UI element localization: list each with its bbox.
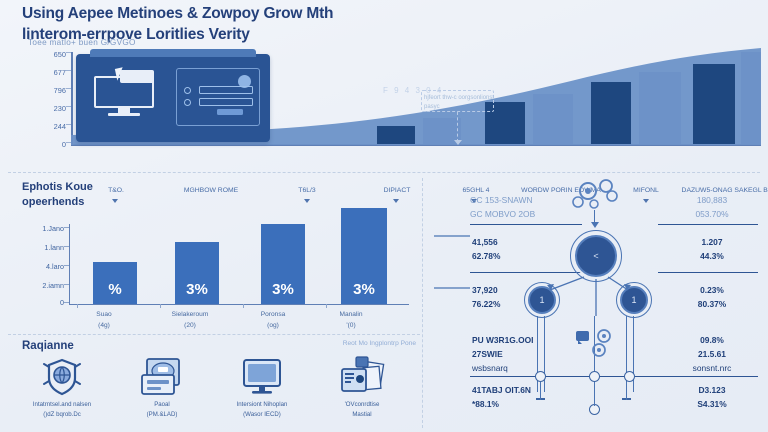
annotation-leader-line [457, 112, 458, 142]
bl-x-label-main: Sielakeroum [148, 310, 232, 321]
right-stat-line: 0.23% [666, 284, 758, 298]
annotation-box: hjfeort thw-c oorgsonlionst pasyc [421, 90, 494, 112]
y-tick-label: 677 [54, 68, 66, 77]
terminal-ring-left [535, 371, 546, 382]
bl-x-label-2: Sielakeroum (20) [148, 310, 232, 331]
bl-bar-value: 3% [341, 281, 387, 298]
bl-bar-1: % [93, 262, 137, 304]
left-stat-line: *88.1% [472, 398, 531, 412]
bottom-left-bars: % 3% 3% 3% [69, 196, 409, 304]
y-tick-label: 650 [54, 50, 66, 59]
bl-bar-value: 3% [261, 281, 305, 298]
title-line-1: Using Aepee Metinoes & Zowpoy Grow Mth [22, 4, 582, 25]
terminal-ring-right [624, 371, 635, 382]
icon-item-1[interactable]: Intatrntsel.and nalsen ()dZ bqrob.Dc [12, 354, 112, 420]
right-stat-line: 053.70% [666, 208, 758, 222]
icon-caption-line-2: (PM.&LAD) [112, 410, 212, 420]
bl-y-tick-label: 4.laro [46, 262, 64, 271]
top-chart: 650 677 796 230 244 0 [8, 48, 760, 160]
right-stat-group-3: 0.23% 80.37% [666, 284, 758, 312]
bl-y-tick-label: 1.Jano [42, 224, 64, 233]
subtitle: Toee matlo+ buen G/GVGO [28, 38, 136, 47]
left-stat-group-2: 41,556 62.78% [472, 236, 500, 264]
left-stat-group-1: GC 153-SNAWN GC MOBVO 2OB [470, 194, 535, 222]
bl-x-label-sub: (og) [240, 321, 306, 332]
shield-globe-icon [12, 354, 112, 400]
annotation-text: hjfeort thw-c oorgsonlionst pasyc [424, 94, 495, 112]
right-stat-group-4: 09.8% 21.5.61 sonsnt.nrc [666, 334, 758, 376]
icon-strip-title: Raqianne [22, 340, 74, 352]
badge-chip [120, 70, 154, 83]
bottom-left-chart: Ephotis Koue opeerhends 1.Jano 1.lann 4.… [8, 176, 420, 331]
bl-x-label-main: Manalin [318, 310, 384, 321]
infographic-page: Using Aepee Metinoes & Zowpoy Grow Mth l… [0, 0, 768, 432]
right-stat-group-1: 180,883 053.70% [666, 194, 758, 222]
right-stat-line: 44.3% [666, 250, 758, 264]
bar-9 [639, 72, 681, 144]
left-stat-line: GC 153-SNAWN [470, 194, 535, 208]
monitor-icon [212, 354, 312, 400]
left-stat-line: 76.22% [472, 298, 500, 312]
bl-x-label-sub: (4g) [74, 321, 134, 332]
bl-x-label-3: Poronsa (og) [240, 310, 306, 331]
tee-stem-right [626, 382, 627, 400]
y-tick-label: 230 [54, 104, 66, 113]
divider-horizontal-top [8, 172, 760, 173]
icon-caption-line-2: Mastial [312, 410, 412, 420]
icon-caption-line-2: (Wasor IECD) [212, 410, 312, 420]
icon-strip: Raqianne Reot Mo Ingplontrp Pone Intatrn… [8, 336, 420, 430]
bl-bar-2: 3% [175, 242, 219, 304]
left-stat-line: wsbsnarq [472, 362, 533, 376]
bl-title-line-1: Ephotis Koue [22, 180, 172, 195]
drop-line-left-b [544, 316, 545, 392]
right-stat-line: 1.207 [666, 236, 758, 250]
right-diagram-panel: < 1 1 [426, 176, 760, 430]
bl-bar-value: 3% [175, 281, 219, 298]
right-stat-line: S4.31% [666, 398, 758, 412]
server-device-icon [112, 354, 212, 400]
icon-caption-line-1: Paoal [112, 400, 212, 410]
bar-10 [693, 64, 735, 144]
right-stat-line: 180,883 [666, 194, 758, 208]
icon-caption-line-1: Intersiont Nihoplan [212, 400, 312, 410]
left-stat-line: GC MOBVO 2OB [470, 208, 535, 222]
form-card-illustration [176, 68, 260, 126]
right-stat-line: D3.123 [666, 384, 758, 398]
terminal-ring-center [589, 371, 600, 382]
tee-stem-center [594, 382, 595, 406]
left-stat-line: 62.78% [472, 250, 500, 264]
chat-bubble-icon [576, 331, 589, 341]
left-stat-line: 27SWIE [472, 348, 533, 362]
top-chart-y-axis: 650 677 796 230 244 0 [22, 50, 66, 146]
bl-x-label-sub: '(0) [318, 321, 384, 332]
right-stat-line: 21.5.61 [666, 348, 758, 362]
bar-7 [533, 94, 573, 144]
left-stat-line: PU W3R1G.OOI [472, 334, 533, 348]
bl-y-tick-label: 1.lann [44, 243, 64, 252]
left-stat-line: 37,920 [472, 284, 500, 298]
bl-bar-4: 3% [341, 208, 387, 304]
bl-x-label-main: Suao [74, 310, 134, 321]
tee-stem-left [540, 382, 541, 400]
right-stat-line: 09.8% [666, 334, 758, 348]
left-stat-group-3: 37,920 76.22% [472, 284, 500, 312]
divider-horizontal-bottom [8, 334, 420, 335]
documents-stack-icon [312, 354, 412, 400]
divider-vertical [422, 178, 423, 428]
bl-x-label-sub: (20) [148, 321, 232, 332]
icon-caption-line-1: 'OVconrdtise [312, 400, 412, 410]
right-stat-line: sonsnt.nrc [666, 362, 758, 376]
bl-x-label-4: Manalin '(0) [318, 310, 384, 331]
icon-caption-line-1: Intatrntsel.and nalsen [12, 400, 112, 410]
icon-item-3[interactable]: Intersiont Nihoplan (Wasor IECD) [212, 354, 312, 420]
right-stat-group-5: D3.123 S4.31% [666, 384, 758, 412]
y-tick-label: 796 [54, 86, 66, 95]
drop-line-right-b [633, 316, 634, 392]
left-stat-line: 41,556 [472, 236, 500, 250]
y-tick-label: 244 [54, 122, 66, 131]
bl-y-tick-label: 2.iamn [42, 281, 64, 290]
bar-4 [377, 126, 415, 144]
illustration-panel [76, 54, 270, 142]
icon-item-2[interactable]: Paoal (PM.&LAD) [112, 354, 212, 420]
bar-8 [591, 82, 631, 144]
bl-bar-3: 3% [261, 224, 305, 304]
right-stat-group-2: 1.207 44.3% [666, 236, 758, 264]
icon-item-4[interactable]: 'OVconrdtise Mastial [312, 354, 412, 420]
bl-x-label-1: Suao (4g) [74, 310, 134, 331]
right-stat-line: 80.37% [666, 298, 758, 312]
bl-x-axis-line [69, 304, 409, 305]
icon-strip-note: Reot Mo Ingplontrp Pone [343, 340, 416, 347]
bottom-left-y-axis: 1.Jano 1.lann 4.laro 2.iamn 0 [16, 224, 64, 302]
bl-x-label-main: Poronsa [240, 310, 306, 321]
icon-caption-line-2: ()dZ bqrob.Dc [12, 410, 112, 420]
annotation-arrow-icon [454, 140, 462, 145]
left-stat-line: 41TABJ OIT.6N [472, 384, 531, 398]
mid-gear-icon [590, 328, 618, 360]
left-stat-group-5: 41TABJ OIT.6N *88.1% [472, 384, 531, 412]
bar-11 [741, 52, 761, 144]
left-stat-group-4: PU W3R1G.OOI 27SWIE wsbsnarq [472, 334, 533, 376]
bl-bar-value: % [93, 281, 137, 298]
